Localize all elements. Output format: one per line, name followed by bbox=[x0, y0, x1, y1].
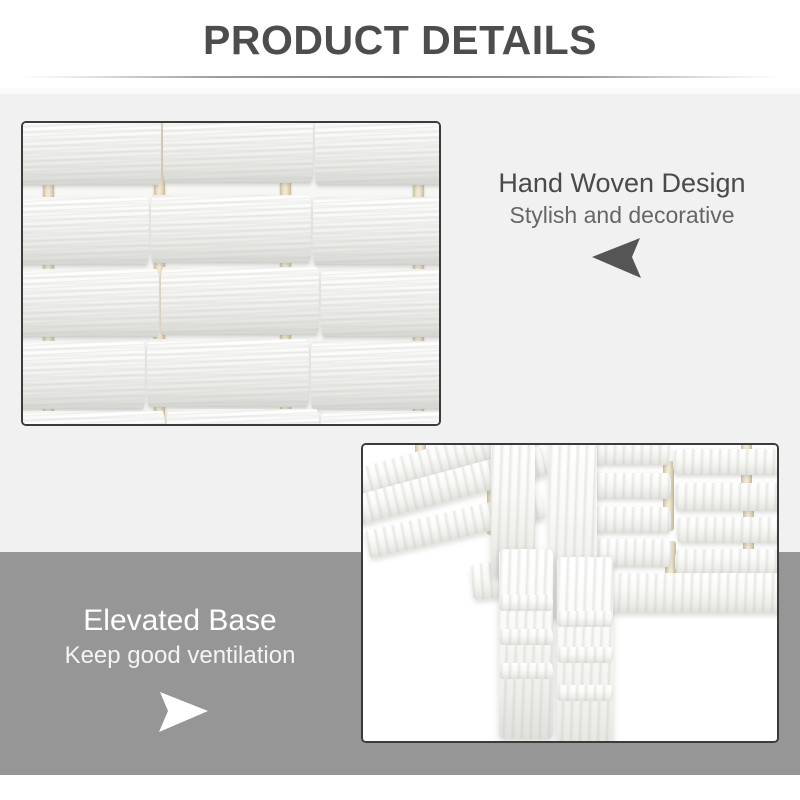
callout-subline: Stylish and decorative bbox=[462, 200, 782, 230]
callout-elevated-base: Elevated Base Keep good ventilation bbox=[20, 602, 340, 672]
title-divider bbox=[18, 76, 782, 78]
callout-headline: Elevated Base bbox=[20, 602, 340, 640]
callout-hand-woven-design: Hand Woven Design Stylish and decorative bbox=[462, 166, 782, 230]
photo-elevated-base bbox=[361, 443, 779, 743]
panel-top-highlight bbox=[0, 88, 800, 94]
arrow-left-icon bbox=[588, 236, 652, 280]
product-details-page: PRODUCT DETAILS bbox=[0, 0, 800, 800]
photo-hand-woven-design bbox=[21, 121, 441, 426]
callout-headline: Hand Woven Design bbox=[462, 166, 782, 200]
woven-texture-illustration bbox=[23, 123, 439, 424]
arrow-right-icon bbox=[148, 690, 212, 734]
callout-subline: Keep good ventilation bbox=[20, 640, 340, 672]
page-title: PRODUCT DETAILS bbox=[0, 16, 800, 64]
basket-legs-illustration bbox=[363, 445, 777, 741]
